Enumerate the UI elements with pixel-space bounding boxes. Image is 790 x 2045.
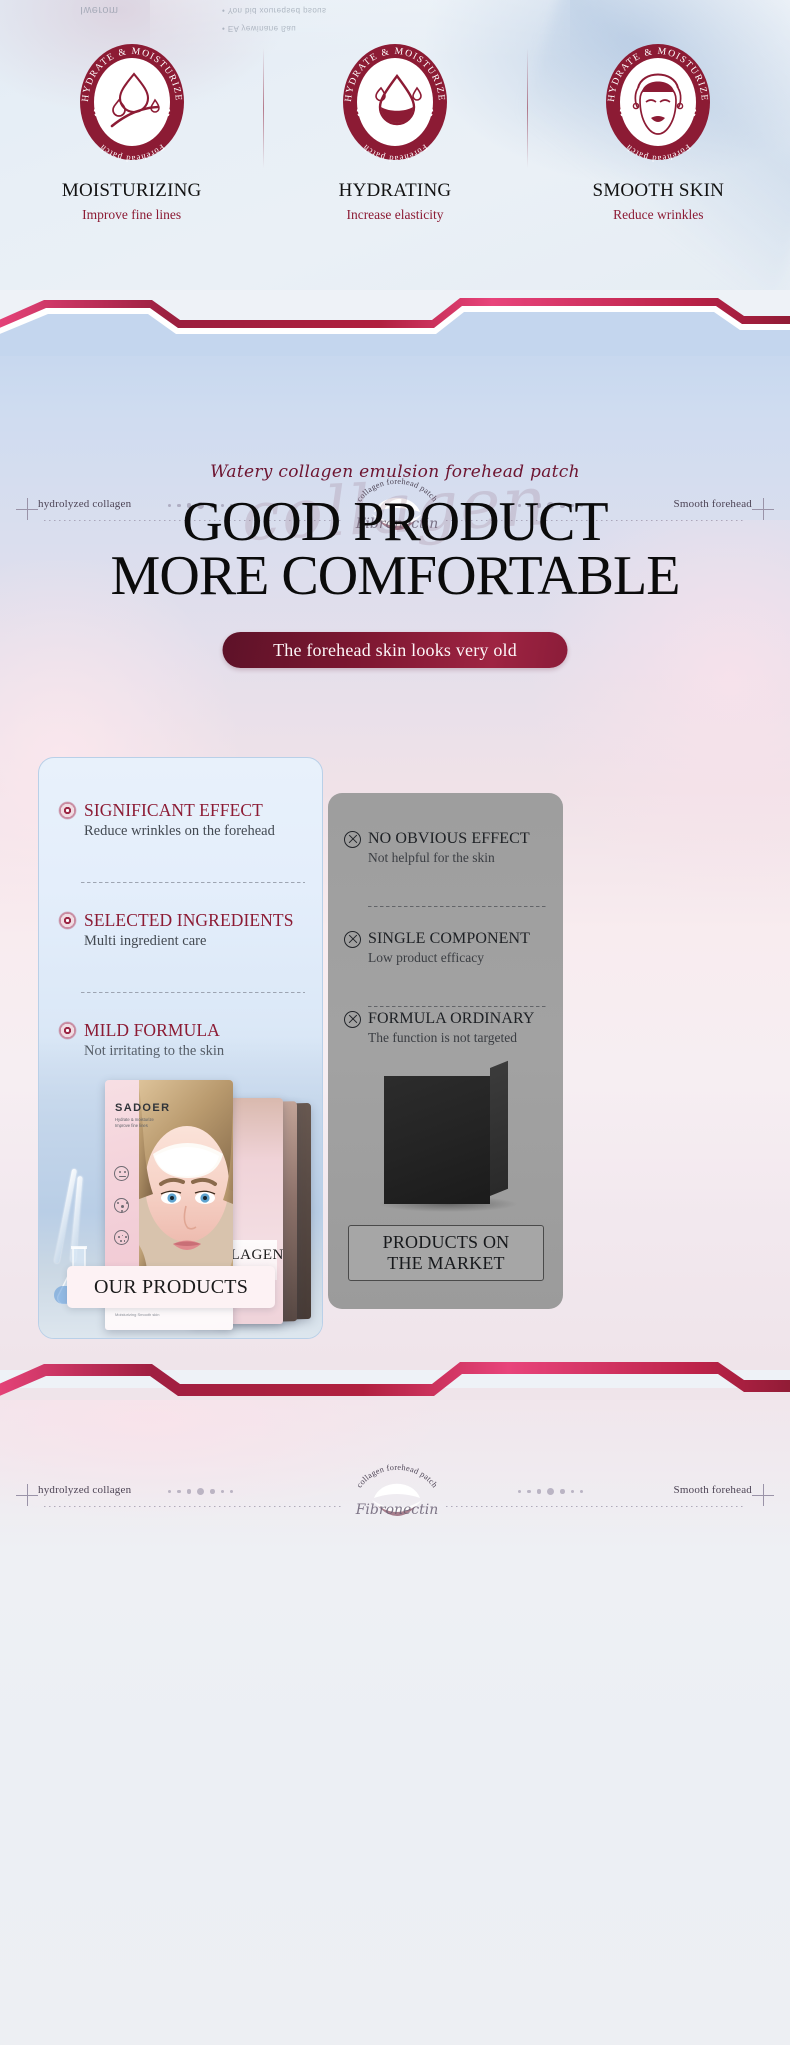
market-products-button[interactable]: PRODUCTS ON THE MARKET	[348, 1225, 544, 1281]
badge-title: SMOOTH SKIN	[593, 180, 725, 202]
our-product-card: SIGNIFICANT EFFECT Reduce wrinkles on th…	[38, 757, 323, 1339]
molecule-icon	[114, 1198, 129, 1213]
target-dot-icon	[59, 912, 76, 929]
bad-feature-subtitle: Low product efficacy	[368, 950, 554, 966]
bad-feature-title: FORMULA ORDINARY	[368, 1010, 535, 1028]
product-brand-tagline: Hydrate & moisturize Improve fine lines	[115, 1117, 161, 1130]
footer-brand-logo-icon: collagen forehead patch Fibronectin	[342, 1452, 452, 1524]
badge-subtitle: Increase elasticity	[346, 207, 443, 223]
wrinkle-face-icon	[114, 1166, 129, 1181]
seal-badge-icon: HYDRATE & MOISTURIZE Forehead patch	[72, 38, 192, 166]
chevron-divider-top	[0, 276, 790, 356]
target-dot-icon	[59, 802, 76, 819]
badge-hydrating: HYDRATE & MOISTURIZE Forehead patch HYDR…	[263, 38, 526, 223]
footer-band-label-right: Smooth forehead	[674, 1484, 752, 1496]
box-side-face	[490, 1061, 508, 1196]
good-feature-title: SIGNIFICANT EFFECT	[84, 800, 263, 821]
badge-moisturizing: HYDRATE & MOISTURIZE Forehead patch MOIS…	[0, 38, 263, 223]
ghost-text-b: • Yon bid xoureqsed psous	[222, 6, 326, 15]
badge-title: HYDRATING	[339, 180, 452, 202]
band-tick-left-icon	[16, 1484, 38, 1506]
circle-x-icon	[344, 931, 361, 948]
ghost-text-c: • EA yewinane ßau	[222, 24, 296, 33]
badge-row: HYDRATE & MOISTURIZE Forehead patch MOIS…	[0, 38, 790, 223]
bad-feature-1: NO OBVIOUS EFFECT Not helpful for the sk…	[344, 830, 554, 866]
target-dot-icon	[59, 1022, 76, 1039]
hydration-dots-icon	[114, 1230, 129, 1245]
headline-eyebrow: Watery collagen emulsion forehead patch	[0, 462, 790, 482]
footer-band-label-left: hydrolyzed collagen	[38, 1484, 131, 1496]
badge-title: MOISTURIZING	[62, 180, 202, 202]
badges-section: Iwerom • Yon bid xoureqsed psous • EA ye…	[0, 0, 790, 290]
footer-dotted-line-right	[446, 1506, 746, 1507]
badge-smooth-skin: HYDRATE & MOISTURIZE Forehead patch	[527, 38, 790, 223]
bad-feature-subtitle: Not helpful for the skin	[368, 850, 554, 866]
footer-dots-left	[168, 1488, 233, 1495]
good-feature-2: SELECTED INGREDIENTS Multi ingredient ca…	[59, 910, 305, 950]
bad-feature-2: SINGLE COMPONENT Low product efficacy	[344, 930, 554, 966]
product-photo: COLLAGEN Multi Active	[39, 1038, 323, 1338]
bad-feature-title: NO OBVIOUS EFFECT	[368, 830, 530, 848]
footer-section: hydrolyzed collagen collagen forehead pa…	[0, 1400, 790, 2045]
headline-line-2: MORE COMFORTABLE	[0, 548, 790, 604]
product-fine-print: Moisturizing Smooth skin	[115, 1312, 175, 1318]
generic-black-box-image	[384, 1068, 508, 1204]
circle-x-icon	[344, 831, 361, 848]
badge-subtitle: Improve fine lines	[82, 207, 181, 223]
market-button-line-1: PRODUCTS ON	[383, 1232, 510, 1253]
info-band-bottom: hydrolyzed collagen collagen forehead pa…	[0, 1480, 790, 1520]
bad-feature-3: FORMULA ORDINARY The function is not tar…	[344, 1010, 554, 1046]
good-feature-title: SELECTED INGREDIENTS	[84, 910, 294, 931]
market-button-line-2: THE MARKET	[387, 1253, 505, 1274]
bad-divider-2	[368, 1006, 548, 1007]
band-tick-right-icon	[752, 1484, 774, 1506]
good-feature-1: SIGNIFICANT EFFECT Reduce wrinkles on th…	[59, 800, 305, 840]
badge-subtitle: Reduce wrinkles	[613, 207, 703, 223]
good-feature-subtitle: Reduce wrinkles on the forehead	[84, 823, 305, 840]
problem-statement-banner: The forehead skin looks very old	[223, 632, 568, 668]
ghost-text-a: Iwerom	[80, 4, 118, 16]
product-benefit-icons	[114, 1166, 129, 1245]
seal-badge-icon: HYDRATE & MOISTURIZE Forehead patch	[335, 38, 455, 166]
circle-x-icon	[344, 1011, 361, 1028]
good-divider-1	[81, 882, 305, 883]
good-divider-2	[81, 992, 305, 993]
headline-line-1: GOOD PRODUCT	[0, 494, 790, 550]
product-brand-name: SADOER	[115, 1102, 170, 1114]
seal-badge-icon: HYDRATE & MOISTURIZE Forehead patch	[598, 38, 718, 166]
box-front-face	[384, 1076, 490, 1204]
svg-text:Fibronectin: Fibronectin	[355, 1502, 439, 1518]
bad-feature-title: SINGLE COMPONENT	[368, 930, 530, 948]
product-detail-page: Iwerom • Yon bid xoureqsed psous • EA ye…	[0, 0, 790, 2045]
bad-feature-subtitle: The function is not targeted	[368, 1030, 554, 1046]
our-products-button[interactable]: OUR PRODUCTS	[67, 1266, 275, 1308]
competitor-product-card: NO OBVIOUS EFFECT Not helpful for the sk…	[328, 793, 563, 1309]
footer-dotted-line-left	[44, 1506, 344, 1507]
bad-divider-1	[368, 906, 548, 907]
footer-dots-right	[518, 1488, 583, 1495]
good-feature-subtitle: Multi ingredient care	[84, 933, 305, 950]
